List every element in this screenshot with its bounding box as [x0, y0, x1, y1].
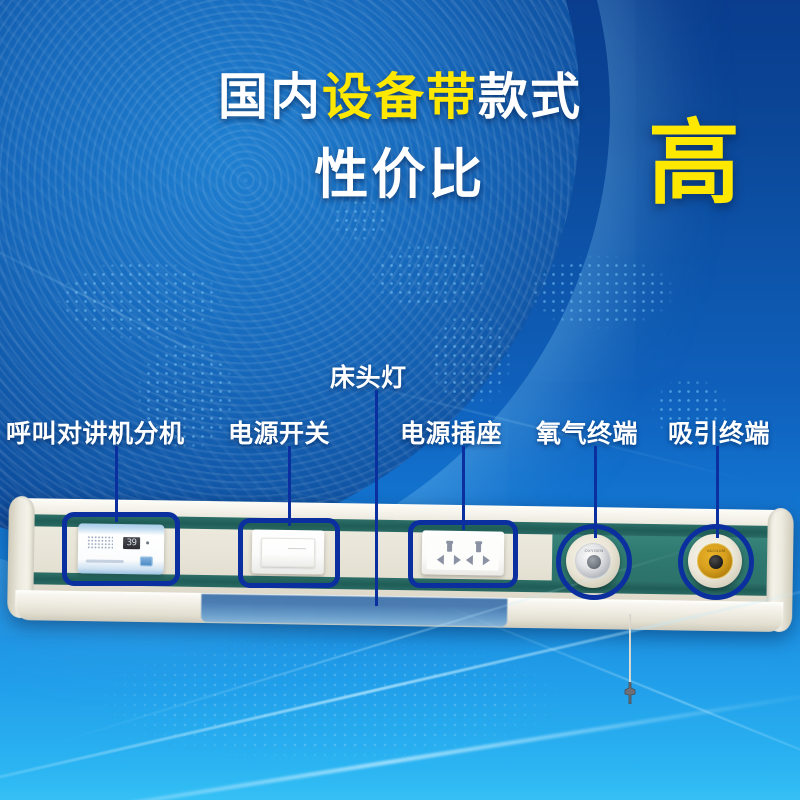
callout-label-power-socket: 电源插座 — [400, 414, 502, 450]
callout-layer: 呼叫对讲机分机 电源开关 床头灯 电源插座 氧气终端 吸引终端 — [0, 0, 800, 800]
highlight-circle-oxygen — [556, 524, 632, 600]
leader-line-power-socket — [462, 446, 465, 530]
leader-line-bed-lamp — [375, 390, 378, 606]
leader-line-power-switch — [288, 446, 291, 526]
highlight-box-power-socket — [408, 520, 518, 588]
callout-label-suction: 吸引终端 — [668, 414, 770, 450]
callout-label-bed-lamp: 床头灯 — [330, 358, 407, 394]
callout-label-oxygen: 氧气终端 — [536, 414, 638, 450]
leader-line-intercom — [115, 446, 118, 522]
highlight-box-intercom — [62, 512, 180, 586]
highlight-box-power-switch — [238, 518, 340, 588]
callout-label-power-switch: 电源开关 — [228, 414, 330, 450]
highlight-circle-suction — [678, 524, 754, 600]
promo-image-root: 国内设备带款式 性价比 高 39 — [0, 0, 800, 800]
callout-label-intercom: 呼叫对讲机分机 — [6, 414, 185, 450]
